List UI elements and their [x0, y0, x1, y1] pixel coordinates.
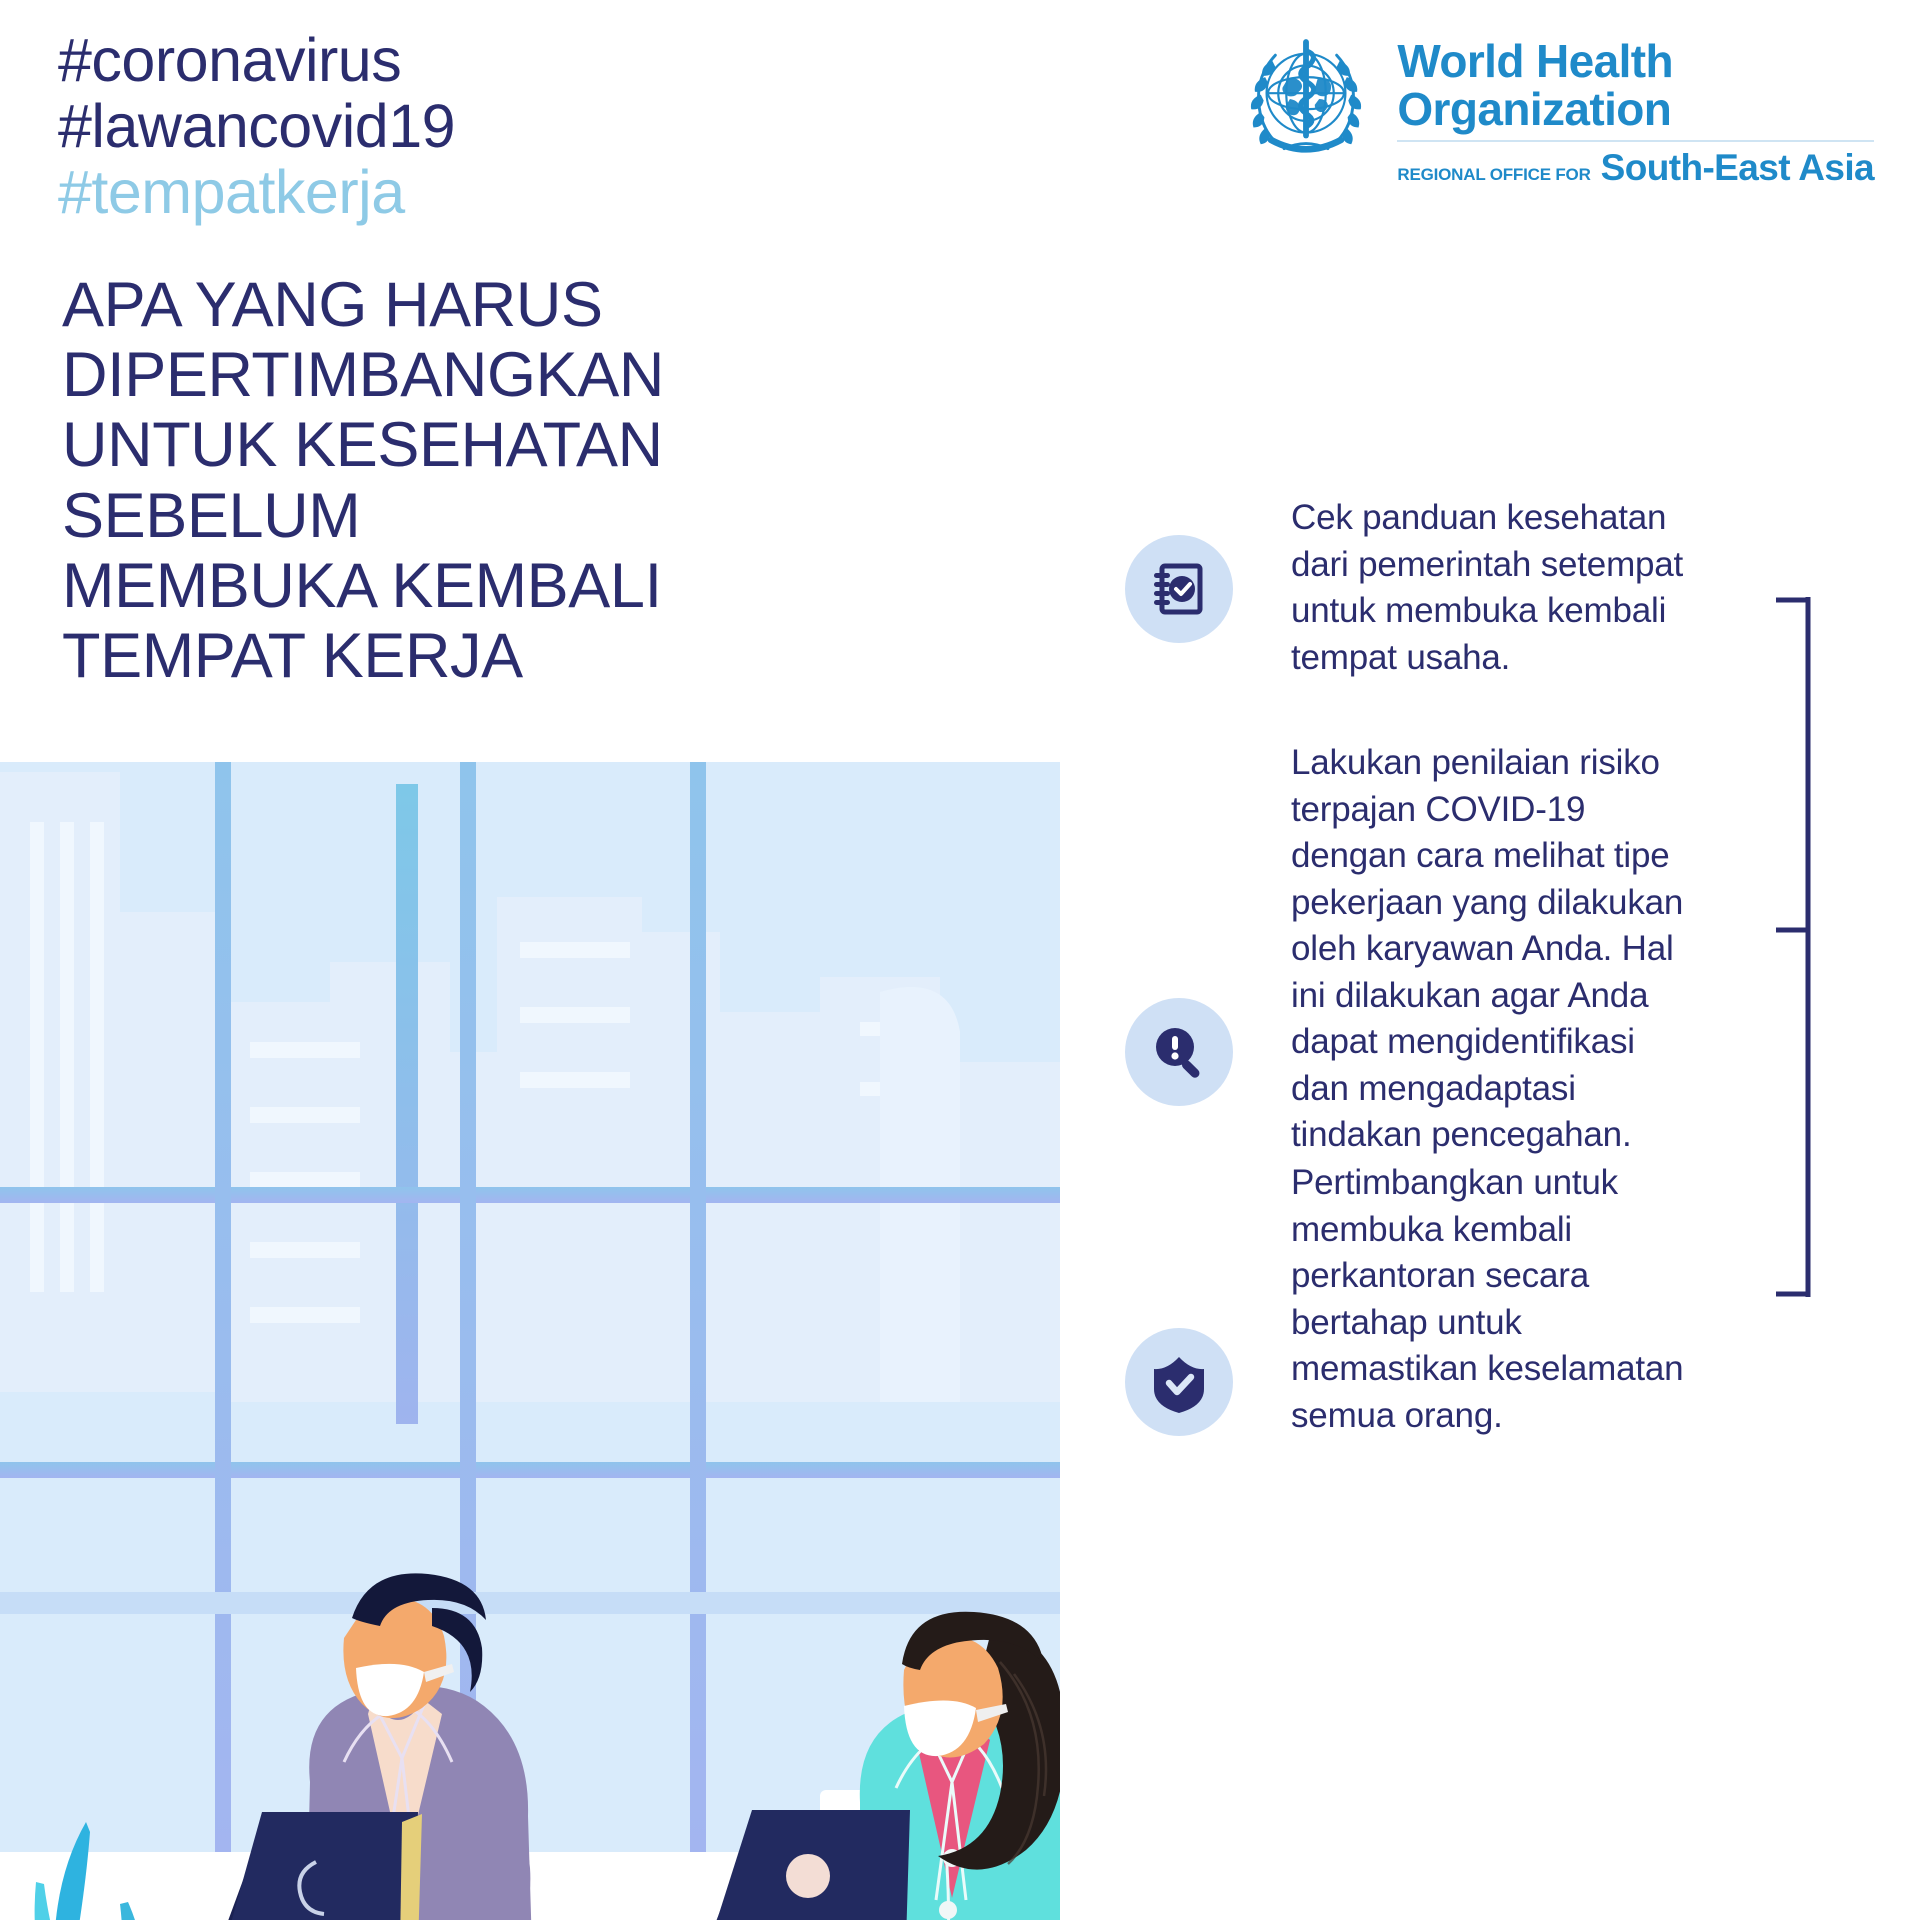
headline-line-6: TEMPAT KERJA [62, 621, 664, 691]
who-region-name: South-East Asia [1601, 147, 1874, 189]
who-region-block: REGIONAL OFFICE FOR South-East Asia [1397, 147, 1874, 189]
who-emblem-icon [1233, 26, 1379, 172]
shield-check-icon [1125, 1328, 1233, 1436]
who-name-line1: World Health [1397, 38, 1874, 86]
hashtag-coronavirus: #coronavirus [58, 28, 455, 94]
magnifier-alert-icon [1125, 998, 1233, 1106]
page-title: APA YANG HARUS DIPERTIMBANGKAN UNTUK KES… [62, 270, 664, 691]
section-bracket [1756, 597, 1816, 1297]
hashtag-block: #coronavirus #lawancovid19 #tempatkerja [58, 28, 455, 226]
who-region-prefix: REGIONAL OFFICE FOR [1397, 165, 1590, 185]
tip-item-guidance: Cek panduan kesehatan dari pemerintah se… [1125, 495, 1691, 681]
office-illustration [0, 762, 1060, 1920]
hashtag-lawancovid19: #lawancovid19 [58, 94, 455, 160]
tip-text-risk-assessment: Lakukan penilaian risiko terpajan COVID-… [1291, 740, 1691, 1159]
tip-item-risk-assessment: Lakukan penilaian risiko terpajan COVID-… [1125, 740, 1691, 1159]
who-logo-text: World Health Organization REGIONAL OFFIC… [1397, 26, 1874, 189]
headline-line-5: MEMBUKA KEMBALI [62, 551, 664, 621]
hashtag-tempatkerja: #tempatkerja [58, 160, 455, 226]
tip-text-guidance: Cek panduan kesehatan dari pemerintah se… [1291, 495, 1691, 681]
skyline-tower [396, 784, 418, 1424]
who-name-line2: Organization [1397, 86, 1874, 134]
headline-line-3: UNTUK KESEHATAN [62, 410, 664, 480]
notebook-check-icon [1125, 535, 1233, 643]
headline-line-4: SEBELUM [62, 481, 664, 551]
headline-line-2: DIPERTIMBANGKAN [62, 340, 664, 410]
tip-item-phased-reopening: Pertimbangkan untuk membuka kembali perk… [1125, 1160, 1691, 1439]
who-logo: World Health Organization REGIONAL OFFIC… [1233, 26, 1874, 189]
headline-line-1: APA YANG HARUS [62, 270, 664, 340]
office-scene-svg [0, 762, 1060, 1920]
poster-root: #coronavirus #lawancovid19 #tempatkerja [0, 0, 1920, 1920]
who-divider [1397, 140, 1874, 142]
tip-text-phased-reopening: Pertimbangkan untuk membuka kembali perk… [1291, 1160, 1691, 1439]
